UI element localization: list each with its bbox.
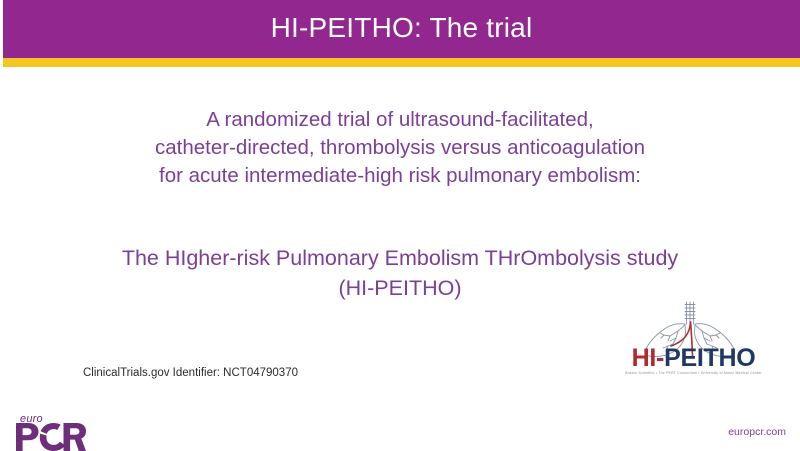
hi-peitho-logo: HI-PEITHO Boston Scientific • The PERT C… (606, 300, 781, 380)
trial-statement-line-1: A randomized trial of ultrasound-facilit… (0, 106, 800, 134)
study-name-line-1: The HIgher-risk Pulmonary Embolism THrOm… (0, 243, 800, 273)
slide-canvas: HI-PEITHO: The trial A randomized trial … (0, 0, 800, 450)
trial-statement-line-2: catheter-directed, thrombolysis versus a… (0, 134, 800, 162)
hi-peitho-wordmark-hi: HI- (632, 344, 664, 372)
slide-header-band: HI-PEITHO: The trial (3, 0, 800, 58)
europcr-logo: euro (16, 413, 86, 449)
hi-peitho-wordmark: HI-PEITHO (606, 345, 781, 371)
study-name-line-2: (HI-PEITHO) (0, 273, 800, 303)
clinicaltrials-identifier: ClinicalTrials.gov Identifier: NCT047903… (83, 366, 298, 380)
hi-peitho-logo-tagline: Boston Scientific • The PERT Consortium … (606, 371, 781, 377)
page-title: HI-PEITHO: The trial (271, 14, 533, 44)
trial-statement-line-3: for acute intermediate-high risk pulmona… (0, 162, 800, 190)
footer-website-url: europcr.com (728, 425, 786, 439)
study-full-name: The HIgher-risk Pulmonary Embolism THrOm… (0, 243, 800, 303)
trial-statement: A randomized trial of ultrasound-facilit… (0, 106, 800, 190)
header-accent-rule (3, 58, 800, 67)
europcr-pcr-mark-icon (16, 423, 86, 451)
hi-peitho-wordmark-peitho: PEITHO (664, 344, 755, 372)
